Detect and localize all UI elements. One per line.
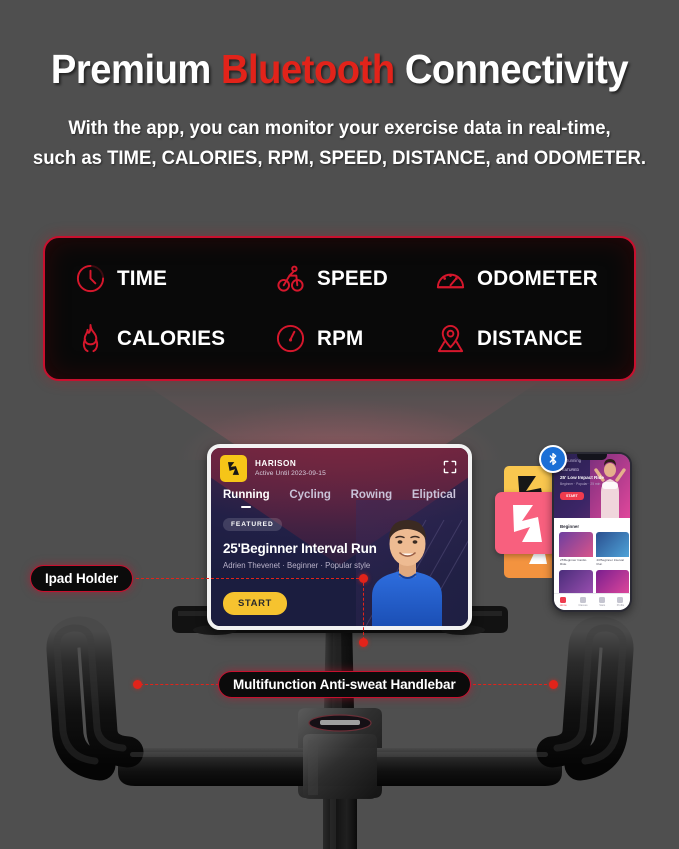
tablet-header: HARISON Active Until 2023-09-15	[211, 448, 468, 482]
product-feature-graphic: Premium Bluetooth Connectivity With the …	[0, 0, 679, 849]
subtitle-line-1: With the app, you can monitor your exerc…	[17, 113, 662, 143]
app-card-pink	[495, 492, 557, 554]
tab-cycling[interactable]: Cycling	[289, 489, 331, 501]
phone-nav-profile[interactable]: Profile	[617, 597, 624, 607]
phone-nav-classes-label: Classes	[578, 604, 587, 607]
feature-label-speed: SPEED	[317, 266, 388, 291]
scan-frame-icon[interactable]	[443, 460, 457, 474]
feature-label-distance: DISTANCE	[477, 326, 583, 351]
phone-hero-model-photo	[590, 454, 630, 518]
feature-item-calories: CALORIES	[75, 323, 275, 354]
cyclist-icon	[275, 263, 306, 294]
phone-nav-classes[interactable]: Classes	[578, 597, 587, 607]
phone-class-thumb	[559, 570, 593, 595]
clock-icon	[75, 263, 106, 294]
feature-label-time: TIME	[117, 266, 167, 291]
leader-line-ipad	[136, 578, 364, 579]
phone-hero-start-button[interactable]: START	[560, 492, 584, 500]
phone-device: Running Cycling	[552, 452, 632, 612]
phone-screen: Running Cycling	[554, 454, 630, 610]
tab-eliptical-label: Eliptical	[412, 489, 456, 501]
phone-nav-home-label: Home	[560, 604, 567, 607]
phone-bottom-nav: Home Classes Stats Profile	[554, 593, 630, 610]
user-name: HARISON	[255, 459, 326, 469]
leader-dot-handlebar-left	[133, 680, 142, 689]
phone-nav-stats-label: Stats	[599, 604, 605, 607]
leader-dot-ipad-mount	[359, 638, 368, 647]
phone-nav-home[interactable]: Home	[560, 597, 567, 607]
feature-item-rpm: RPM	[275, 323, 435, 354]
home-icon	[560, 597, 566, 603]
leader-dot-ipad-anchor	[359, 574, 368, 583]
user-meta: HARISON Active Until 2023-09-15	[255, 459, 326, 477]
metrics-feature-panel: TIME SPEED ODOMETER	[43, 236, 636, 381]
tab-running[interactable]: Running	[223, 489, 270, 501]
feature-item-odometer: ODOMETER	[435, 263, 668, 294]
phone-hero-title: 25' Low Impact Ride	[560, 475, 604, 480]
tab-eliptical[interactable]: Eliptical	[412, 489, 456, 501]
feature-item-distance: DISTANCE	[435, 323, 668, 354]
s-logo-glyph-icon	[502, 498, 550, 548]
callout-ipad-holder: Ipad Holder	[30, 565, 133, 592]
tab-cycling-label: Cycling	[289, 489, 331, 501]
tab-running-label: Running	[223, 489, 270, 501]
map-pin-icon	[435, 323, 466, 354]
odometer-gauge-icon	[435, 263, 466, 294]
tab-active-underline	[241, 506, 251, 509]
tab-rowing-label: Rowing	[351, 489, 393, 501]
bluetooth-badge	[539, 445, 567, 473]
leader-vline-ipad	[363, 578, 364, 645]
subtitle: With the app, you can monitor your exerc…	[17, 113, 662, 173]
phone-nav-profile-label: Profile	[617, 604, 624, 607]
workout-type-tabs: Running Cycling Rowing Eliptical	[211, 482, 468, 501]
tablet-device: HARISON Active Until 2023-09-15 Running …	[207, 444, 472, 630]
phone-hero-meta: Beginner · Popular · 25 min	[560, 482, 600, 486]
phone-class-caption: 25'Beginner Cardio Ride	[559, 557, 593, 567]
featured-badge: FEATURED	[223, 518, 282, 531]
feature-item-speed: SPEED	[275, 263, 435, 294]
phone-class-thumb	[596, 570, 630, 595]
subtitle-line-2: such as TIME, CALORIES, RPM, SPEED, DIST…	[17, 143, 662, 173]
leader-dot-handlebar-right	[549, 680, 558, 689]
tachometer-icon	[275, 323, 306, 354]
classes-icon	[580, 597, 586, 603]
stats-icon	[599, 597, 605, 603]
headline-accent: Bluetooth	[221, 46, 395, 92]
class-title: 25'Beginner Interval Run	[223, 541, 468, 556]
headline-part1: Premium	[51, 46, 221, 92]
feature-label-calories: CALORIES	[117, 326, 225, 351]
phone-class-caption: 20'Beginner Interval Run	[596, 557, 630, 567]
phone-class-thumb	[596, 532, 630, 557]
callout-handlebar: Multifunction Anti-sweat Handlebar	[218, 671, 471, 698]
phone-class-card[interactable]: 25'Beginner Cardio Ride	[559, 532, 593, 567]
leader-line-handlebar-left	[140, 684, 224, 685]
avatar	[220, 455, 247, 482]
phone-notch	[577, 454, 607, 460]
phone-class-thumb	[559, 532, 593, 557]
class-meta: Adrien Thevenet · Beginner · Popular sty…	[223, 561, 468, 570]
feature-item-time: TIME	[75, 263, 275, 294]
headline-part2: Connectivity	[395, 46, 628, 92]
start-button[interactable]: START	[223, 592, 287, 615]
flame-icon	[75, 323, 106, 354]
brand-mark-icon	[224, 459, 243, 478]
phone-nav-stats[interactable]: Stats	[599, 597, 605, 607]
leader-line-handlebar-right	[468, 684, 552, 685]
profile-icon	[617, 597, 623, 603]
feature-label-odometer: ODOMETER	[477, 266, 598, 291]
feature-label-rpm: RPM	[317, 326, 363, 351]
phone-class-card[interactable]: 20'Beginner Interval Run	[596, 532, 630, 567]
page-title: Premium Bluetooth Connectivity	[24, 48, 655, 91]
account-active-until: Active Until 2023-09-15	[255, 470, 326, 478]
phone-section-title: Beginner	[560, 524, 579, 529]
tablet-screen: HARISON Active Until 2023-09-15 Running …	[211, 448, 468, 626]
tab-rowing[interactable]: Rowing	[351, 489, 393, 501]
phone-and-app-cards: Running Cycling	[492, 444, 642, 619]
bluetooth-icon	[545, 451, 561, 467]
